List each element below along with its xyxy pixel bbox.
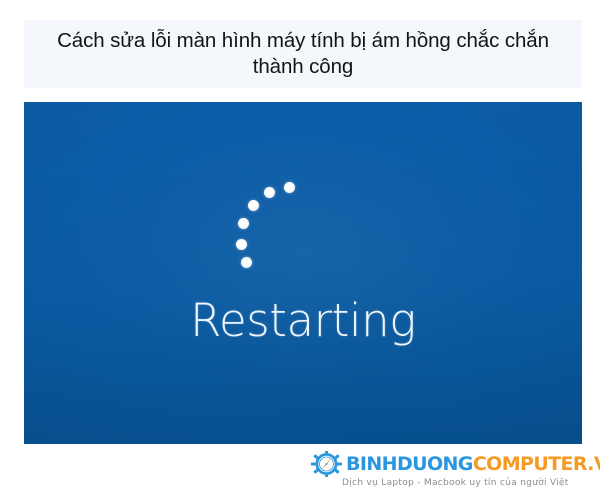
loading-spinner xyxy=(24,102,582,444)
windows-restarting-screenshot: Restarting xyxy=(24,102,582,444)
logo-brand-primary: BINHDUONG xyxy=(346,453,473,475)
logo-tagline: Dịch vụ Laptop - Macbook uy tín của ngườ… xyxy=(342,478,573,488)
spinner-dot xyxy=(248,200,259,211)
logo-wordmark: BINHDUONGCOMPUTER.VN xyxy=(346,455,600,474)
site-logo[interactable]: BINHDUONGCOMPUTER.VN Dịch vụ Laptop - Ma… xyxy=(311,453,573,493)
logo-brand-secondary: COMPUTER.VN xyxy=(473,453,600,475)
spinner-dot xyxy=(284,182,295,193)
spinner-dot xyxy=(264,187,275,198)
spinner-dot xyxy=(241,257,252,268)
article-title-band: Cách sửa lỗi màn hình máy tính bị ám hồn… xyxy=(24,20,582,88)
status-text: Restarting xyxy=(24,298,582,343)
page-title: Cách sửa lỗi màn hình máy tính bị ám hồn… xyxy=(30,28,576,80)
spinner-dot xyxy=(238,218,249,229)
spinner-dot xyxy=(236,239,247,250)
compass-gear-icon xyxy=(311,451,342,477)
logo-row: BINHDUONGCOMPUTER.VN xyxy=(311,453,573,475)
